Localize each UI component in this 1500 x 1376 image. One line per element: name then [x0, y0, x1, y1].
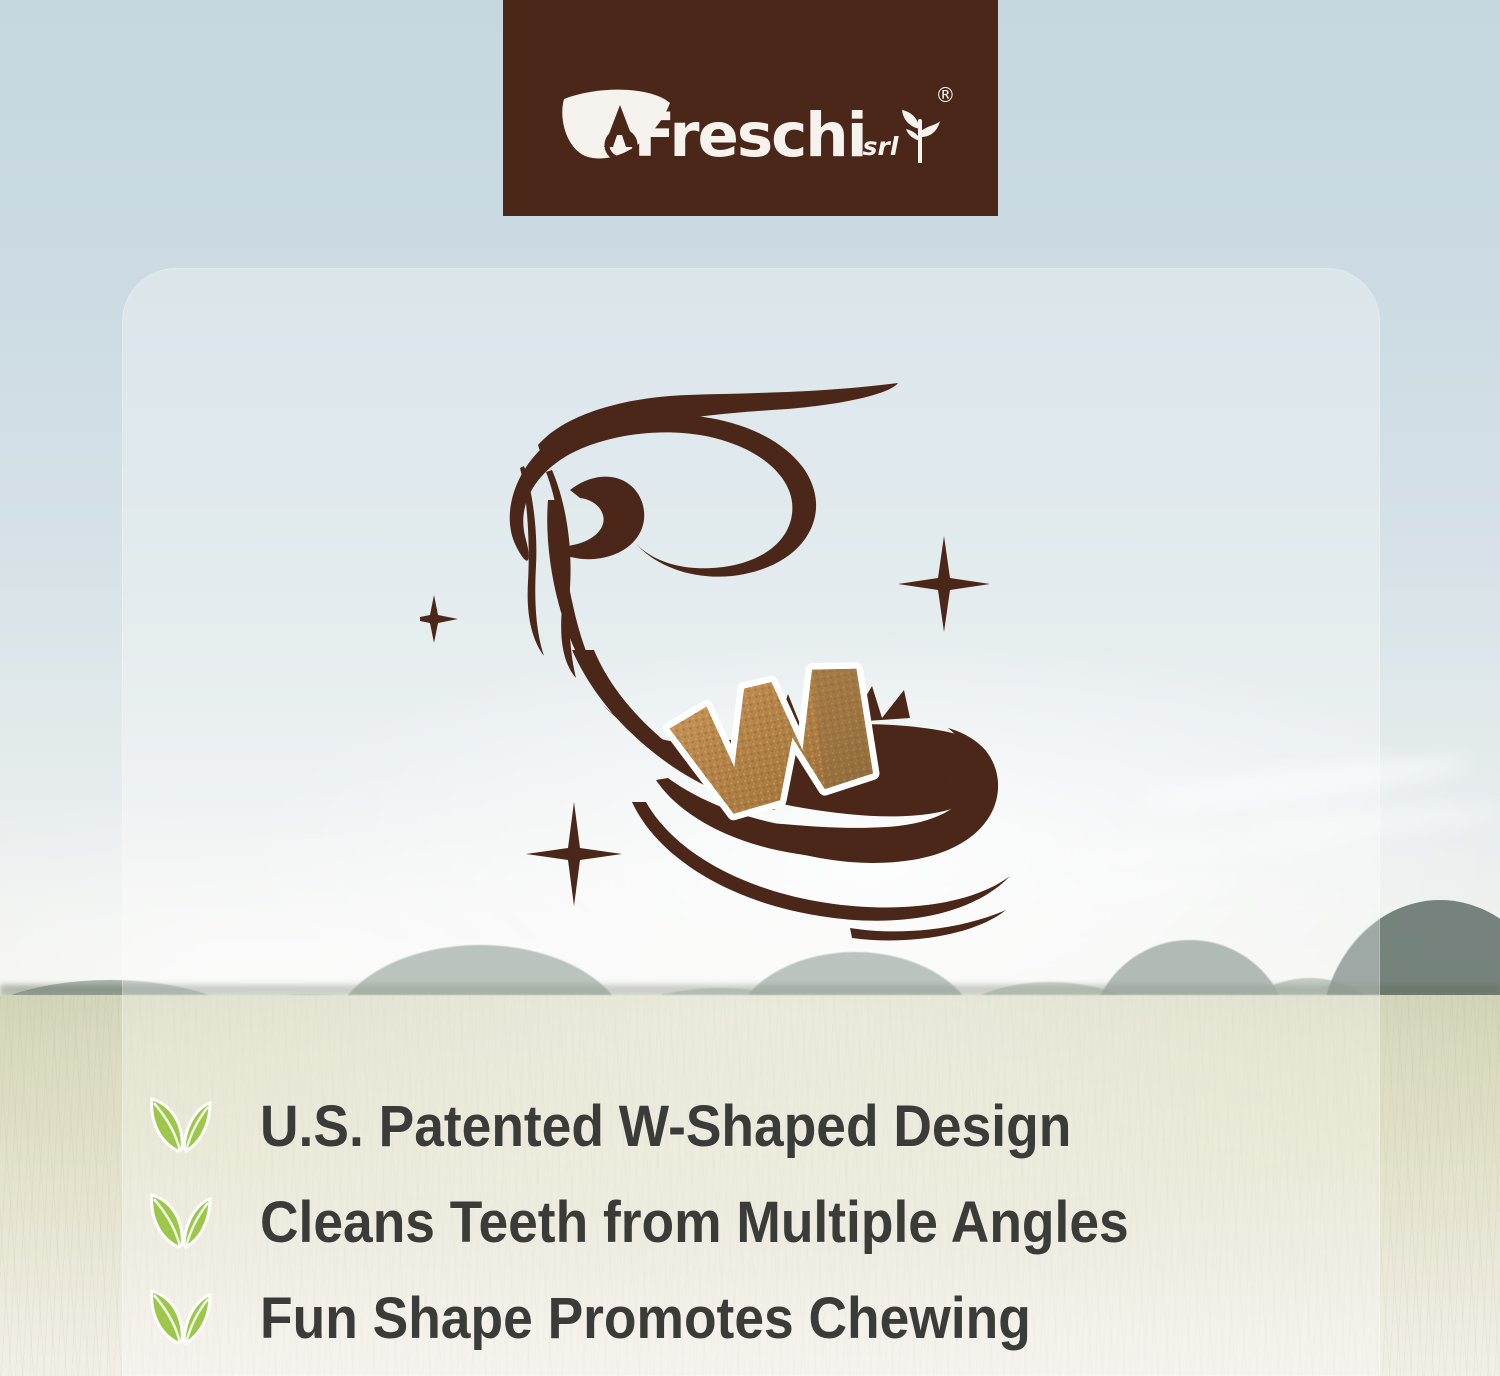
registered-trademark-icon: ®	[935, 83, 955, 107]
sparkle-left	[420, 595, 458, 643]
feature-bullet-item: Fun Shape Promotes Chewing	[148, 1270, 1428, 1366]
feature-bullet-label: Cleans Teeth from Multiple Angles	[260, 1189, 1129, 1256]
leaf-bullet-icon	[148, 1189, 214, 1255]
feature-bullet-label: Fun Shape Promotes Chewing	[260, 1285, 1031, 1352]
feature-bullet-label: U.S. Patented W-Shaped Design	[260, 1093, 1071, 1160]
feature-bullet-item: Cleans Teeth from Multiple Angles	[148, 1174, 1428, 1270]
product-feature-graphic: Freschi srl ®	[0, 0, 1500, 1376]
feature-bullet-list: U.S. Patented W-Shaped Design Cleans Tee…	[148, 1078, 1428, 1366]
sprout-icon	[899, 107, 941, 163]
leaf-bullet-icon	[148, 1093, 214, 1159]
sparkle-bottom	[526, 802, 622, 906]
leaf-bullet-icon	[148, 1285, 214, 1351]
feature-bullet-item: U.S. Patented W-Shaped Design	[148, 1078, 1428, 1174]
brand-logo-bar: Freschi srl ®	[503, 0, 998, 216]
brand-logo-lockup: Freschi srl ®	[560, 87, 942, 165]
brand-wordmark: Freschi	[634, 107, 866, 165]
sparkle-right	[898, 536, 990, 632]
dog-jaw-with-w-chew-illustration	[420, 350, 1040, 970]
brand-suffix: srl	[863, 132, 899, 161]
